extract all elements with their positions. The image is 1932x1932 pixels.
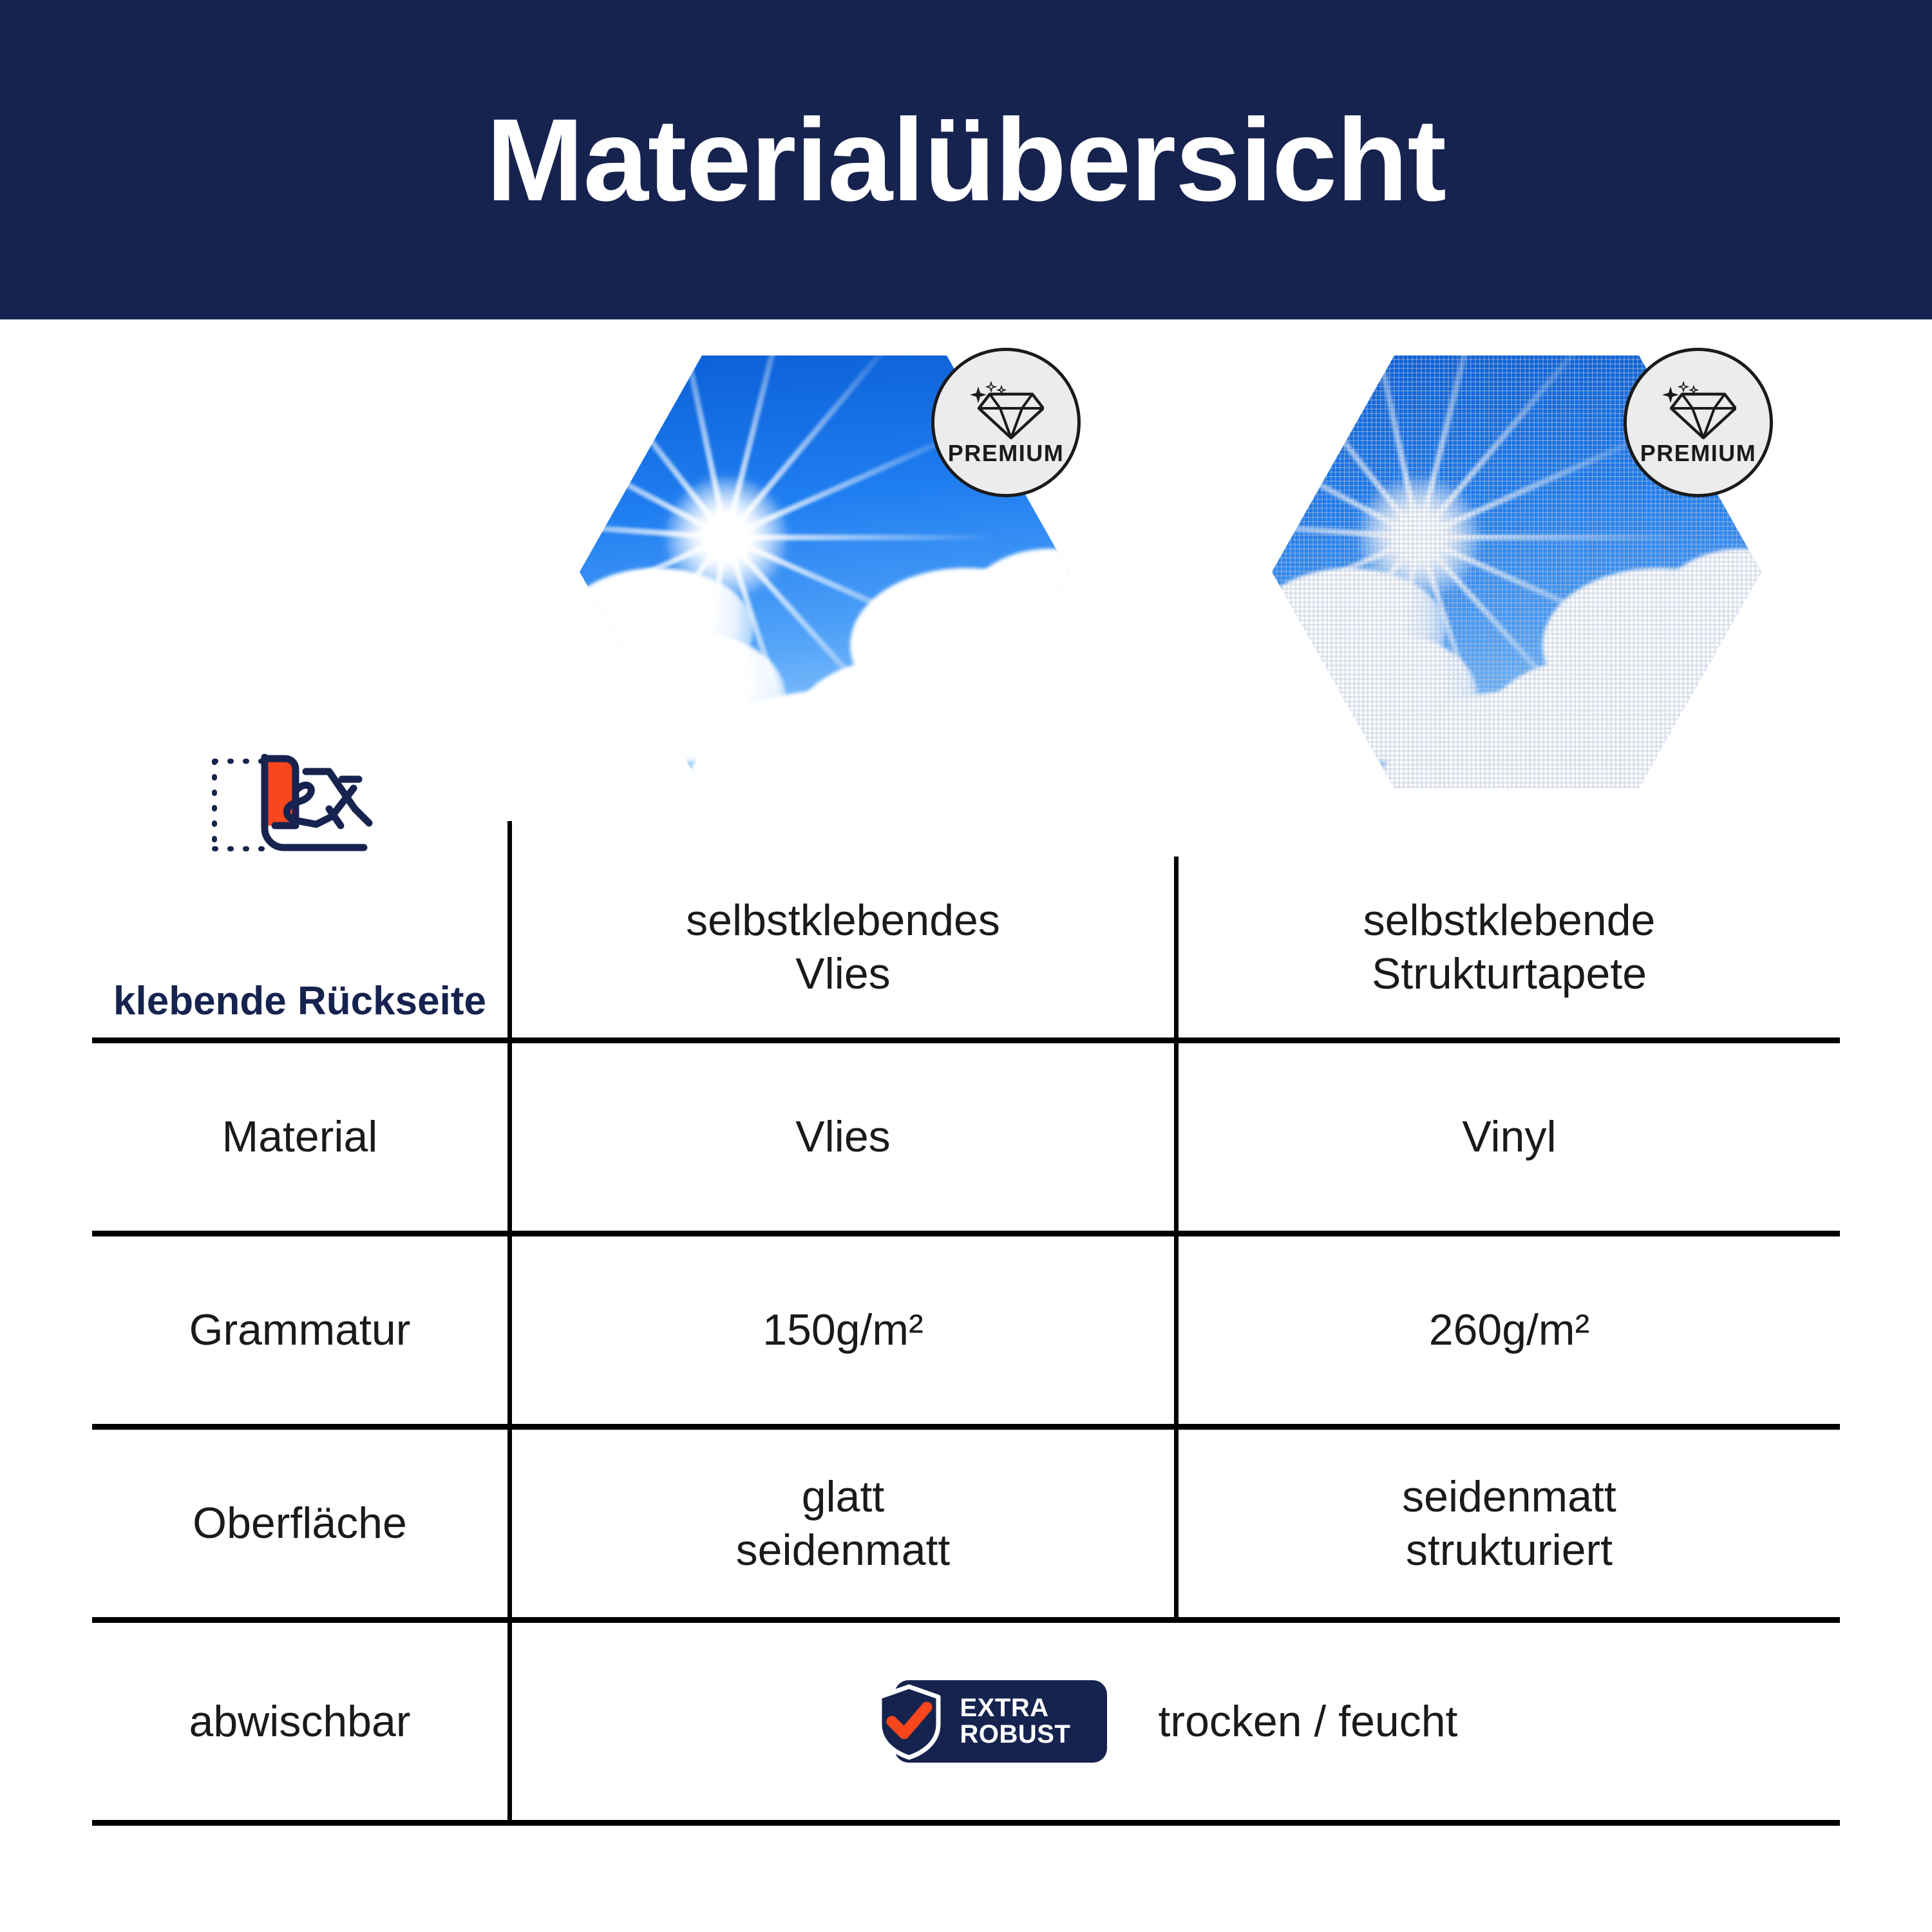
cell-abwischbar-value: EXTRA ROBUST trocken / feucht [507, 1623, 1840, 1820]
cell-line2: strukturiert [1402, 1524, 1616, 1577]
page-header: Materialübersicht [0, 0, 1932, 319]
cell-oberflaeche-vinyl: seidenmatt strukturiert [1174, 1430, 1840, 1617]
cell-grammatur-vlies: 150g/m² [507, 1236, 1174, 1424]
cell-strukturtapete-title: selbstklebende Strukturtapete [1174, 857, 1840, 1037]
sample-vlies: PREMIUM [580, 355, 1069, 788]
cell-vlies-title: selbstklebendes Vlies [507, 857, 1174, 1037]
abwischbar-value-text: trocken / feucht [1159, 1695, 1458, 1748]
cell-line2: Strukturtapete [1363, 947, 1656, 1001]
table-row: Material Vlies Vinyl [92, 1043, 1840, 1236]
cell-line1: glatt [736, 1470, 951, 1524]
cell-line1: selbstklebende [1363, 894, 1656, 947]
extra-robust-line2: ROBUST [960, 1721, 1071, 1748]
premium-badge: PREMIUM [1624, 348, 1773, 497]
column-divider-stub [507, 821, 512, 857]
extra-robust-line1: EXTRA [960, 1695, 1071, 1721]
table-row: klebende Rückseite selbstklebendes Vlies… [92, 857, 1840, 1043]
cell-oberflaeche-vlies: glatt seidenmatt [507, 1430, 1174, 1617]
row-label-klebende-rueckseite: klebende Rückseite [92, 857, 507, 1037]
shield-check-icon [875, 1684, 943, 1760]
table-row: Oberfläche glatt seidenmatt seidenmatt s… [92, 1430, 1840, 1623]
sample-strukturtapete: PREMIUM [1272, 355, 1761, 788]
table-row: abwischbar EXTRA ROBUST trocken / feuc [92, 1623, 1840, 1826]
row-label-line2: Rückseite [298, 979, 486, 1023]
premium-badge: PREMIUM [931, 348, 1081, 497]
premium-badge-label: PREMIUM [1640, 442, 1757, 465]
row-label-abwischbar: abwischbar [92, 1623, 507, 1820]
extra-robust-badge: EXTRA ROBUST [895, 1680, 1107, 1763]
cell-line2: seidenmatt [736, 1524, 951, 1577]
extra-robust-text: EXTRA ROBUST [960, 1695, 1071, 1748]
row-label-grammatur: Grammatur [92, 1236, 507, 1424]
diamond-icon [968, 380, 1044, 442]
peel-backing-icon [203, 747, 396, 863]
cell-grammatur-vinyl: 260g/m² [1174, 1236, 1840, 1424]
premium-badge-label: PREMIUM [948, 442, 1065, 465]
cell-line2: Vlies [686, 947, 1000, 1001]
page-title: Materialübersicht [486, 101, 1446, 218]
row-label-text: klebende Rückseite [113, 978, 486, 1025]
diamond-icon [1660, 380, 1736, 442]
cell-line1: seidenmatt [1402, 1470, 1616, 1524]
row-label-material: Material [92, 1043, 507, 1231]
table-row: Grammatur 150g/m² 260g/m² [92, 1236, 1840, 1430]
row-label-oberflaeche: Oberfläche [92, 1430, 507, 1617]
cell-line1: selbstklebendes [686, 894, 1000, 947]
material-comparison-table: klebende Rückseite selbstklebendes Vlies… [92, 857, 1840, 1826]
cell-material-vinyl: Vinyl [1174, 1043, 1840, 1231]
cell-material-vlies: Vlies [507, 1043, 1174, 1231]
row-label-line1: klebende [113, 979, 287, 1023]
